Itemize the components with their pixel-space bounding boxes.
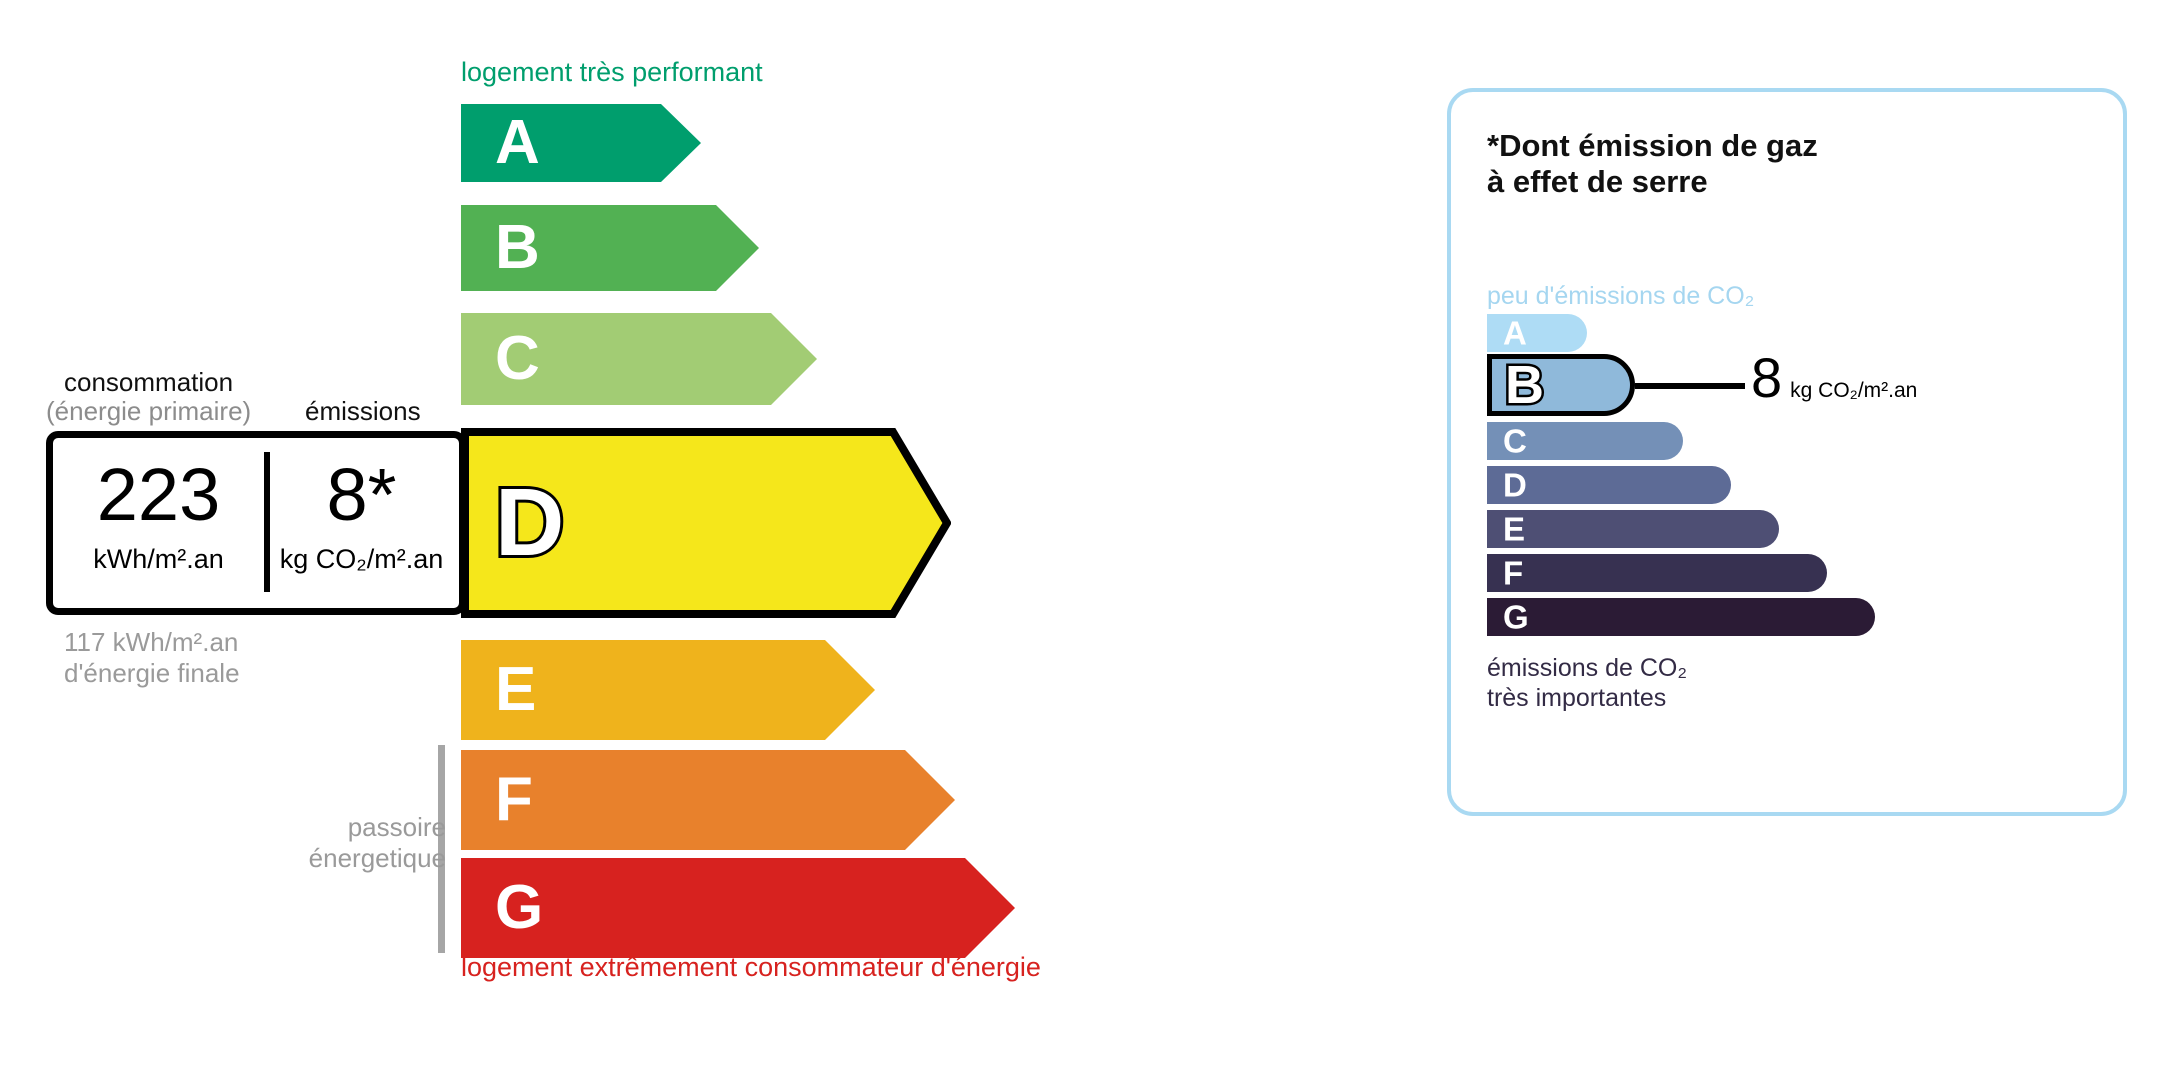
consumption-unit: kWh/m².an <box>53 546 264 573</box>
emission-value: 8* <box>264 458 459 532</box>
consumption-header-sublabel: (énergie primaire) <box>46 397 251 427</box>
co2-class-row-G[interactable]: G <box>1487 598 1875 636</box>
passoire-energetique-label: passoire énergetique <box>206 812 446 873</box>
consumption-header-label: consommation <box>64 368 233 398</box>
emissions-header-label: émissions <box>305 397 421 427</box>
energy-class-row-D-selected[interactable]: D <box>461 428 951 618</box>
co2-value: 8 <box>1751 346 1782 409</box>
energy-class-row-E[interactable]: E <box>461 640 875 740</box>
energy-class-row-B[interactable]: B <box>461 205 759 291</box>
emission-unit: kg CO₂/m².an <box>264 546 459 573</box>
energy-class-letter-A: A <box>495 112 540 174</box>
scale-bottom-label: logement extrêmement consommateur d'éner… <box>461 952 1041 983</box>
co2-bottom-label: émissions de CO₂ très importantes <box>1487 654 1687 713</box>
co2-emissions-panel: *Dont émission de gaz à effet de serre p… <box>1447 88 2127 816</box>
co2-panel-title: *Dont émission de gaz à effet de serre <box>1487 128 1818 201</box>
co2-class-row-F[interactable]: F <box>1487 554 1827 592</box>
co2-class-letter-F: F <box>1503 557 1523 590</box>
co2-bar-A <box>1487 314 1587 352</box>
final-energy-note: 117 kWh/m².an d'énergie finale <box>64 627 240 688</box>
co2-class-row-D[interactable]: D <box>1487 466 1731 504</box>
passoire-line1: passoire <box>206 812 446 843</box>
final-energy-line1: 117 kWh/m².an <box>64 627 240 658</box>
value-box-divider <box>264 452 270 592</box>
consumption-value-box: 223 kWh/m².an 8* kg CO₂/m².an <box>46 431 466 615</box>
final-energy-line2: d'énergie finale <box>64 658 240 689</box>
co2-bar-G <box>1487 598 1875 636</box>
co2-class-letter-D: D <box>1503 469 1527 502</box>
co2-class-row-E[interactable]: E <box>1487 510 1779 548</box>
scale-top-label: logement très performant <box>461 57 763 88</box>
co2-class-letter-B: B <box>1505 358 1544 412</box>
dpe-energy-scale-panel: logement très performant A B C <box>0 0 1400 1079</box>
energy-class-letter-B: B <box>495 217 540 279</box>
energy-class-row-G[interactable]: G <box>461 858 1015 958</box>
energy-class-letter-C: C <box>495 328 540 390</box>
co2-unit: kg CO₂/m².an <box>1790 379 1917 402</box>
energy-class-row-A[interactable]: A <box>461 104 701 182</box>
energy-class-row-C[interactable]: C <box>461 313 817 405</box>
co2-top-label: peu d'émissions de CO₂ <box>1487 282 1754 311</box>
co2-title-line2: à effet de serre <box>1487 164 1818 200</box>
co2-bottom-line2: très importantes <box>1487 684 1687 714</box>
co2-class-row-B-selected[interactable]: B <box>1487 354 1635 416</box>
co2-leader-line <box>1635 383 1745 389</box>
passoire-line2: énergetique <box>206 843 446 874</box>
co2-class-letter-E: E <box>1503 513 1525 546</box>
co2-class-letter-A: A <box>1503 317 1527 350</box>
co2-bar-F <box>1487 554 1827 592</box>
co2-value-annotation: 8kg CO₂/m².an <box>1751 350 1917 406</box>
emission-value-cell: 8* kg CO₂/m².an <box>264 438 459 608</box>
co2-class-letter-C: C <box>1503 425 1527 458</box>
co2-class-letter-G: G <box>1503 601 1529 634</box>
co2-bottom-line1: émissions de CO₂ <box>1487 654 1687 684</box>
energy-class-letter-D: D <box>495 475 564 571</box>
consumption-value-cell: 223 kWh/m².an <box>53 438 264 608</box>
co2-class-row-A[interactable]: A <box>1487 314 1587 352</box>
co2-bar-E <box>1487 510 1779 548</box>
co2-class-row-C[interactable]: C <box>1487 422 1683 460</box>
co2-title-line1: *Dont émission de gaz <box>1487 128 1818 164</box>
energy-class-letter-F: F <box>495 769 533 831</box>
consumption-value: 223 <box>53 458 264 532</box>
energy-class-arrow-G <box>461 858 1015 958</box>
energy-class-row-F[interactable]: F <box>461 750 955 850</box>
energy-class-letter-E: E <box>495 659 536 721</box>
energy-class-arrow-F <box>461 750 955 850</box>
energy-class-letter-G: G <box>495 877 543 939</box>
